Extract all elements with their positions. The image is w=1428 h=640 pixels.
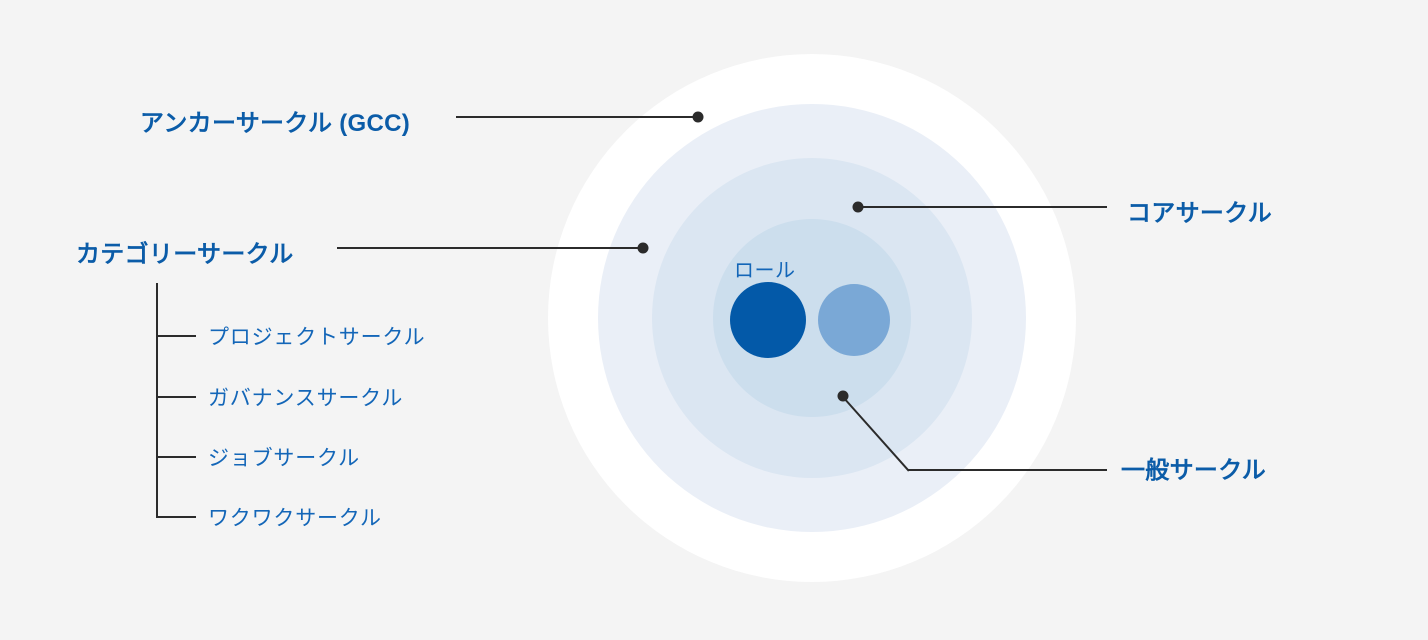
- category-leader-dot: [638, 243, 649, 254]
- core-leader-dot: [853, 202, 864, 213]
- core-leader-line: [858, 206, 1107, 208]
- category-child-job: ジョブサークル: [208, 442, 360, 472]
- category-tree-stub: [156, 396, 196, 398]
- label-core-circle: コアサークル: [1127, 193, 1272, 228]
- anchor-leader-line: [456, 116, 698, 118]
- role-label: ロール: [734, 254, 796, 283]
- label-general-circle: 一般サークル: [1121, 450, 1266, 485]
- label-category-circle: カテゴリーサークル: [76, 234, 294, 269]
- general-leader-line-horizontal: [908, 469, 1107, 471]
- category-child-wakuwaku: ワクワクサークル: [208, 502, 382, 532]
- diagram-canvas: ロール アンカーサークル (GCC) カテゴリーサークル コアサークル 一般サー…: [0, 0, 1428, 640]
- category-tree-stub: [156, 335, 196, 337]
- category-leader-line: [337, 247, 643, 249]
- category-tree-stub: [156, 456, 196, 458]
- anchor-leader-dot: [693, 112, 704, 123]
- category-tree-stub: [156, 516, 196, 518]
- role-dot-primary: [730, 282, 806, 358]
- category-child-governance: ガバナンスサークル: [208, 382, 403, 412]
- general-leader-dot: [838, 391, 849, 402]
- category-tree-spine: [156, 283, 158, 517]
- category-child-project: プロジェクトサークル: [208, 321, 425, 351]
- role-dot-secondary: [818, 284, 890, 356]
- label-anchor-circle: アンカーサークル (GCC): [140, 103, 410, 138]
